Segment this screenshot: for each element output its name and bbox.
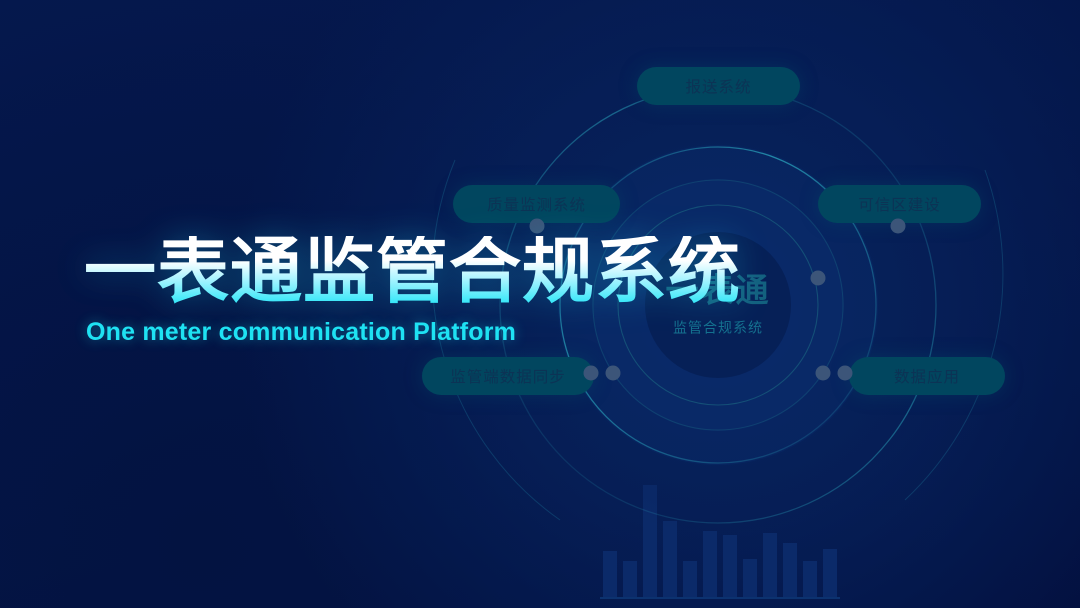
pill-data-application[interactable]: 数据应用 <box>849 357 1005 395</box>
page-subtitle: One meter communication Platform <box>86 318 741 347</box>
node-dot <box>584 366 599 381</box>
pill-regulator-data-sync[interactable]: 监管端数据同步 <box>422 357 594 395</box>
node-dot <box>606 366 621 381</box>
node-dot <box>816 366 831 381</box>
headline-block: 一表通监管合规系统 One meter communication Platfo… <box>84 236 741 347</box>
node-dot <box>838 366 853 381</box>
pill-quality-monitoring-system[interactable]: 质量监测系统 <box>453 185 620 223</box>
pill-trusted-zone-construction[interactable]: 可信区建设 <box>818 185 981 223</box>
node-dot <box>811 271 826 286</box>
slide-canvas: 一表通监管合规系统 One meter communication Platfo… <box>0 0 1080 608</box>
pill-reporting-system[interactable]: 报送系统 <box>637 67 800 105</box>
node-dot <box>891 219 906 234</box>
page-title: 一表通监管合规系统 <box>84 236 741 308</box>
